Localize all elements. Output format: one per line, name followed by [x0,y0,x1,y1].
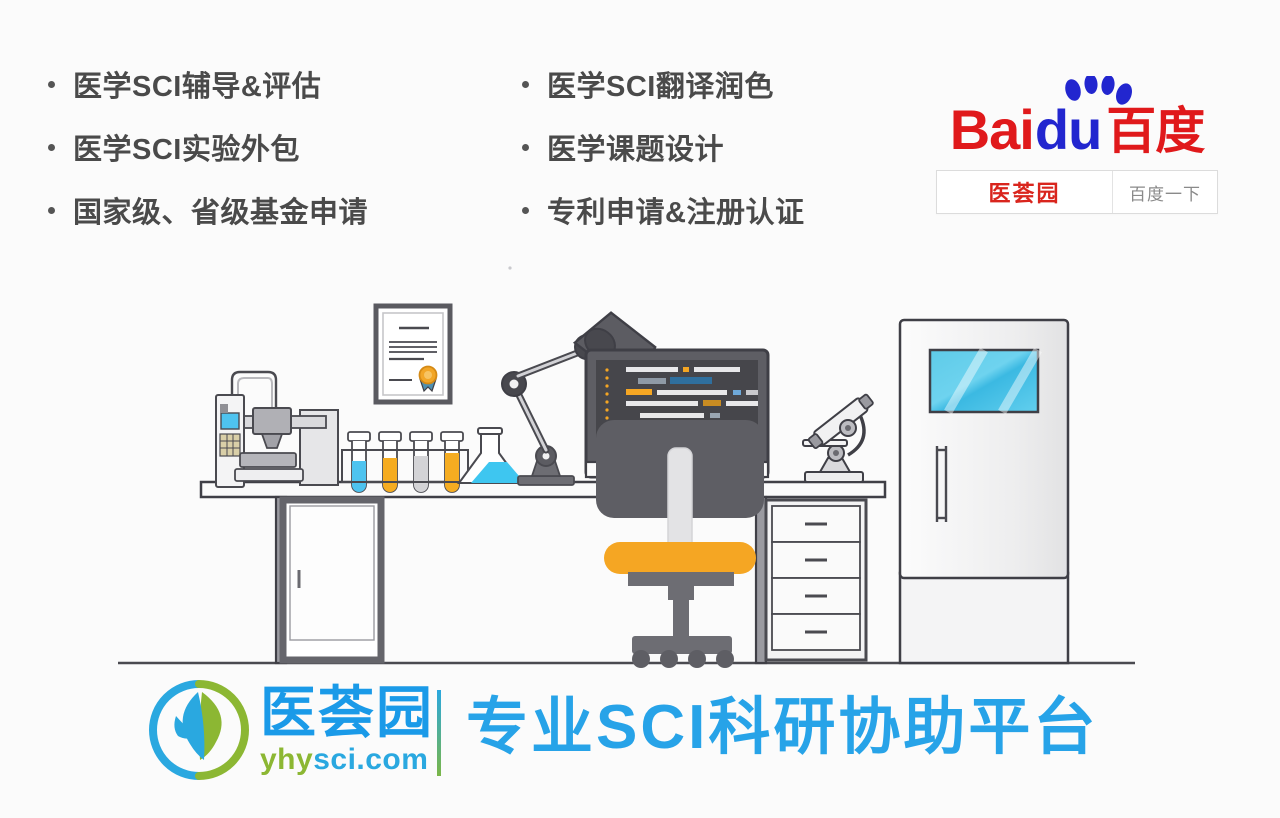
service-label: 医学课题设计 [547,126,724,168]
brand-domain-suffix: sci.com [313,743,428,776]
office-chair [596,420,764,668]
under-desk-cabinet [283,500,381,660]
baidu-logo-du: du [1035,103,1101,156]
list-item: 医学课题设计 [522,115,804,178]
chair-seat [604,542,756,574]
chair-wheel [688,650,706,668]
chair-wheel [716,650,734,668]
list-item: 医学SCI辅导&评估 [48,52,368,115]
brand-tagline: 专业SCI科研协助平台 [466,686,1098,770]
bullet-dot-icon [48,207,55,214]
bullet-dot-icon [48,81,55,88]
bullet-dot-icon [48,144,55,151]
test-tube-rack [342,432,468,492]
baidu-search-bar[interactable]: 医荟园 百度一下 [936,170,1218,214]
microscope-tube [813,397,869,445]
list-item: 医学SCI翻译润色 [522,52,804,115]
framed-certificate [376,306,450,402]
service-list-column-left: 医学SCI辅导&评估 医学SCI实验外包 国家级、省级基金申请 [48,52,368,241]
cabinet-door [290,506,374,640]
brand-name-cn: 医荟园 [260,685,434,741]
analyzer-head [253,408,291,434]
service-list-column-right: 医学SCI翻译润色 医学课题设计 专利申请&注册认证 [522,52,804,241]
lab-analyzer-machine [216,372,338,487]
service-label: 国家级、省级基金申请 [73,189,368,231]
poster-canvas: 医学SCI辅导&评估 医学SCI实验外包 国家级、省级基金申请 医学SCI翻译润… [0,0,1280,818]
service-label: 医学SCI翻译润色 [547,63,774,105]
list-item: 国家级、省级基金申请 [48,178,368,241]
baidu-logo-bai: Bai [950,103,1034,156]
service-label: 医学SCI辅导&评估 [73,63,321,105]
bullet-dot-icon [522,81,529,88]
footer-brand-bar: 医荟园 yhysci.com 专业SCI科研协助平台 [0,678,1280,798]
brand-domain: yhysci.com [260,745,434,775]
lamp-base [518,476,574,485]
baidu-logo: Bai du 百度 [936,92,1218,156]
bullet-dot-icon [522,207,529,214]
bullet-dot-icon [522,144,529,151]
chair-wheel [660,650,678,668]
baidu-search-button[interactable]: 百度一下 [1112,171,1217,213]
brand-lockup: 医荟园 yhysci.com [146,678,434,782]
chair-base [632,636,732,654]
brand-domain-prefix: yhy [260,743,313,776]
drawer-cabinet [766,500,866,660]
analyzer-keypad [220,434,240,456]
list-item: 医学SCI实验外包 [48,115,368,178]
lab-refrigerator [900,320,1068,663]
service-label: 专利申请&注册认证 [547,189,804,231]
laboratory-workspace-illustration [0,250,1280,680]
yhy-leaf-circle-logo [146,678,252,782]
baidu-search-widget: Bai du 百度 医荟园 百度一下 [936,92,1218,214]
chair-wheel [632,650,650,668]
analyzer-screen [221,413,239,429]
brand-divider [437,690,441,776]
decor-speck [508,266,511,269]
list-item: 专利申请&注册认证 [522,178,804,241]
brand-text-block: 医荟园 yhysci.com [260,685,434,775]
search-input[interactable]: 医荟园 [937,171,1112,213]
service-label: 医学SCI实验外包 [73,126,300,168]
microscope [803,392,875,482]
